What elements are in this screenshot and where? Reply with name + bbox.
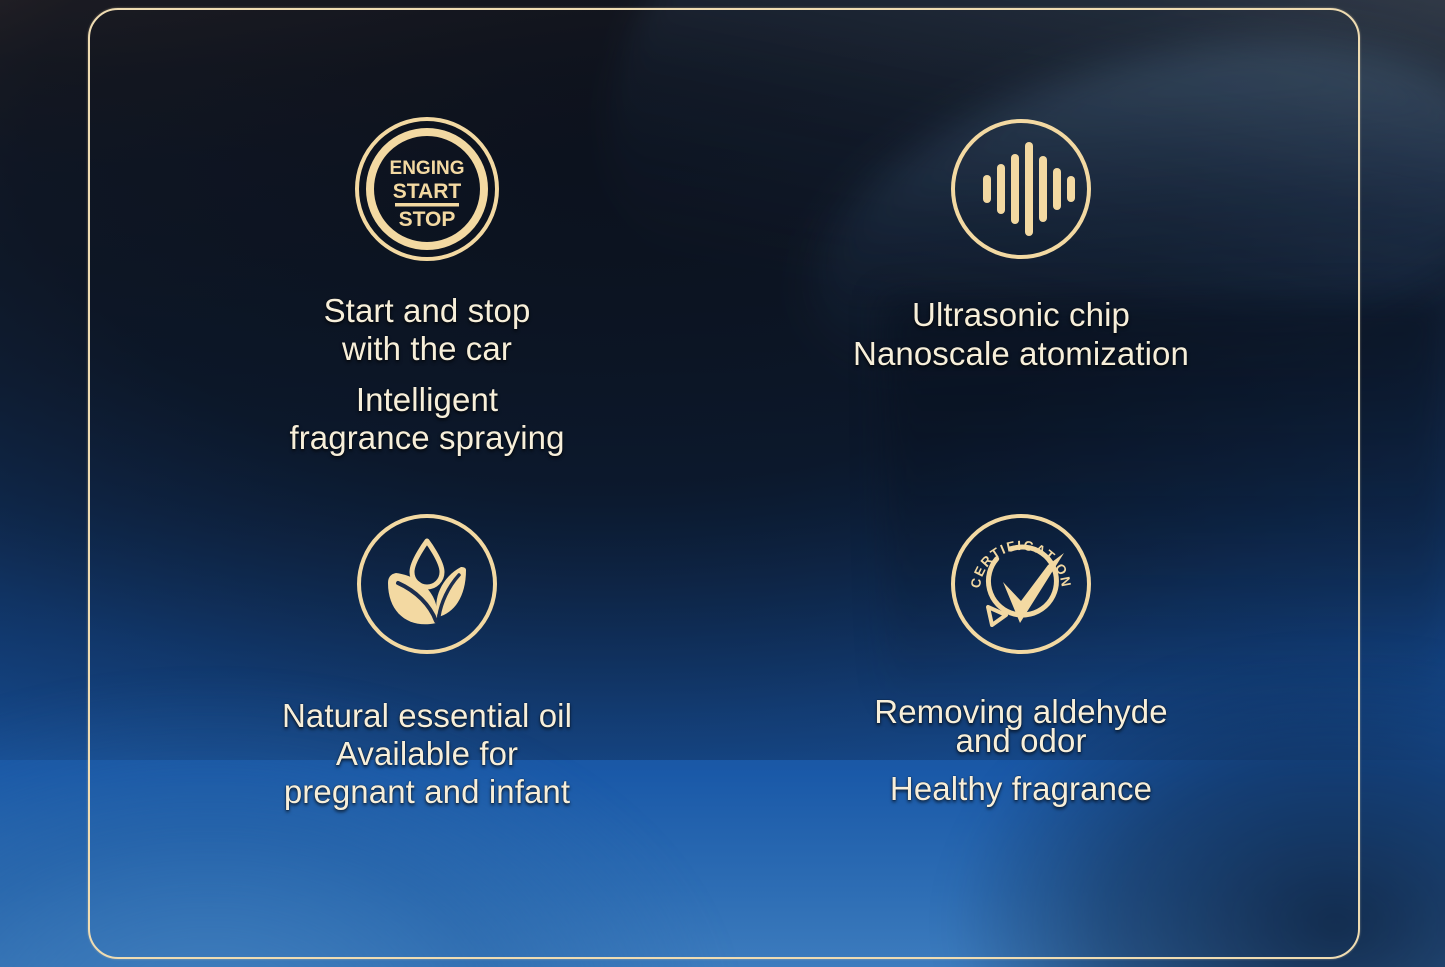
feature-grid: ENGING START STOP Start and stop with th… bbox=[90, 10, 1358, 957]
feature-headline-engine: Start and stop with the car bbox=[324, 292, 531, 368]
feature-subline-ultrasonic: Nanoscale atomization bbox=[853, 335, 1189, 373]
subline-line: Nanoscale atomization bbox=[853, 335, 1189, 373]
headline-line: Start and stop bbox=[324, 292, 531, 330]
feature-headline-ultrasonic: Ultrasonic chip bbox=[912, 296, 1130, 334]
feature-headline-natural-oil: Natural essential oil bbox=[282, 697, 572, 735]
engine-icon-line1: ENGING bbox=[390, 158, 465, 179]
feature-cell-ultrasonic-chip: Ultrasonic chip Nanoscale atomization bbox=[724, 106, 1318, 497]
certification-check-icon: CERTIFICATION bbox=[948, 511, 1094, 657]
leaf-droplet-icon bbox=[354, 511, 500, 657]
engine-start-stop-icon: ENGING START STOP bbox=[354, 116, 500, 262]
subline-line: pregnant and infant bbox=[284, 773, 570, 811]
feature-cell-natural-essential-oil: Natural essential oil Available for preg… bbox=[130, 497, 724, 888]
subline-line: Healthy fragrance bbox=[890, 770, 1152, 808]
feature-subline-aldehyde: Healthy fragrance bbox=[890, 770, 1152, 808]
subline-line: Available for bbox=[284, 735, 570, 773]
gold-bordered-card: ENGING START STOP Start and stop with th… bbox=[88, 8, 1360, 959]
sound-wave-icon bbox=[948, 116, 1094, 262]
svg-text:CERTIFICATION: CERTIFICATION bbox=[968, 537, 1074, 588]
feature-subline-engine: Intelligent fragrance spraying bbox=[289, 381, 564, 457]
headline-line: with the car bbox=[324, 330, 531, 368]
feature-cell-engine-start-stop: ENGING START STOP Start and stop with th… bbox=[130, 106, 724, 497]
feature-panel-stage: ENGING START STOP Start and stop with th… bbox=[0, 0, 1445, 967]
subline-line: Intelligent bbox=[289, 381, 564, 419]
certification-arc-label: CERTIFICATION bbox=[968, 537, 1074, 588]
headline-line: Natural essential oil bbox=[282, 697, 572, 735]
feature-subline-natural-oil: Available for pregnant and infant bbox=[284, 735, 570, 811]
subline-line: fragrance spraying bbox=[289, 419, 564, 457]
headline-line: Ultrasonic chip bbox=[912, 296, 1130, 334]
engine-icon-line3: STOP bbox=[399, 208, 456, 231]
engine-icon-line2: START bbox=[393, 180, 462, 203]
feature-cell-removing-aldehyde: CERTIFICATION Removing aldehyde and odor… bbox=[724, 497, 1318, 888]
feature-headline-aldehyde: Removing aldehyde and odor bbox=[874, 697, 1167, 755]
